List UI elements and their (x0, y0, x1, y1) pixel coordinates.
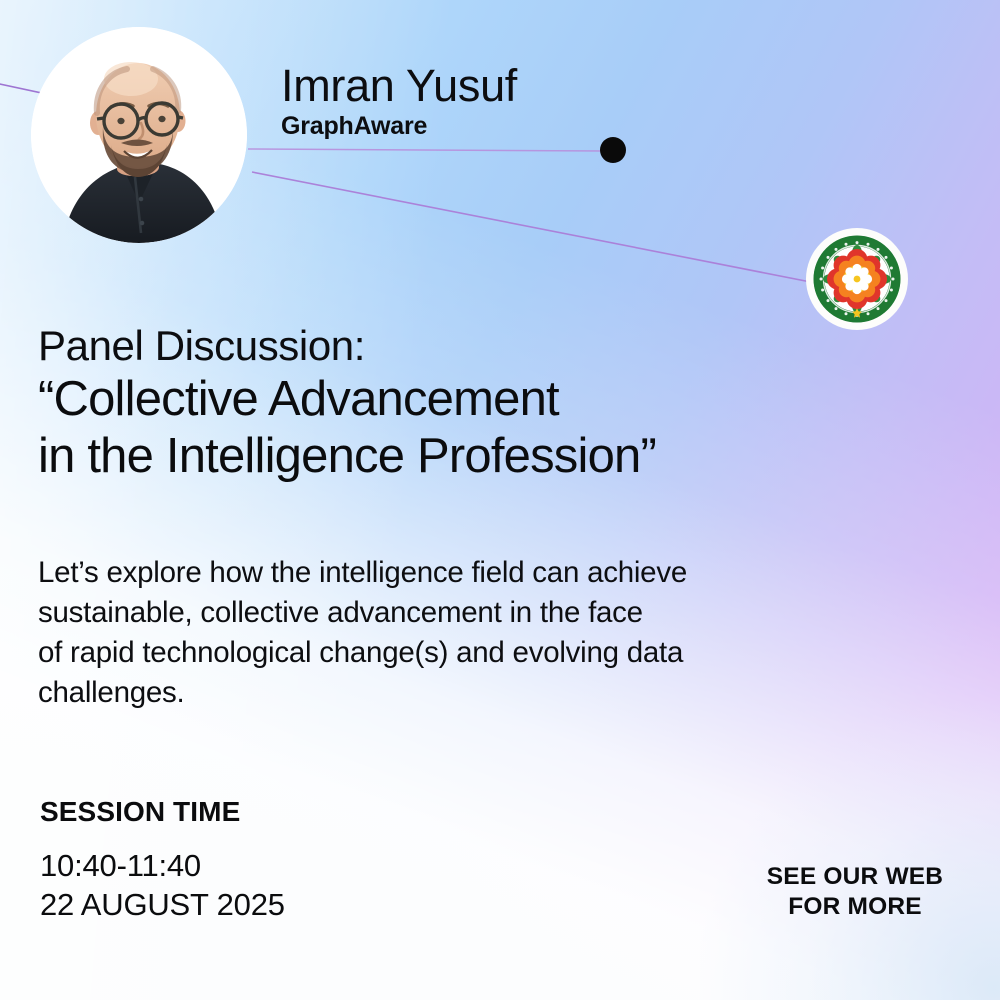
speaker-headshot-icon (31, 27, 247, 243)
headline-main: “Collective Advancement in the Intellige… (38, 371, 918, 485)
headline-line-1: “Collective Advancement (38, 371, 918, 428)
page-title: Panel Discussion: “Collective Advancemen… (38, 322, 918, 485)
graph-node-dot-icon (600, 137, 626, 163)
session-time-value: 10:40-11:40 (40, 846, 285, 885)
cta-line-1: SEE OUR WEB (745, 862, 965, 892)
cta-line-2: FOR MORE (745, 892, 965, 922)
session-time-label: SESSION TIME (40, 797, 285, 828)
session-date-value: 22 AUGUST 2025 (40, 885, 285, 924)
event-promo-poster: Imran Yusuf GraphAware Panel Discussion:… (0, 0, 1000, 1000)
avatar (31, 27, 247, 243)
session-description: Let’s explore how the intelligence field… (38, 553, 938, 713)
see-our-web-cta[interactable]: SEE OUR WEB FOR MORE (745, 862, 965, 922)
speaker-name: Imran Yusuf (281, 62, 711, 109)
speaker-info: Imran Yusuf GraphAware (281, 62, 711, 141)
headline-line-2: in the Intelligence Profession” (38, 428, 918, 485)
description-line-2: sustainable, collective advancement in t… (38, 593, 938, 633)
speaker-organisation: GraphAware (281, 113, 711, 141)
description-line-4: challenges. (38, 673, 938, 713)
session-time-values: 10:40-11:40 22 AUGUST 2025 (40, 846, 285, 924)
institute-rose-emblem-icon (813, 235, 901, 323)
description-line-3: of rapid technological change(s) and evo… (38, 633, 938, 673)
headline-kicker: Panel Discussion: (38, 322, 918, 369)
institute-emblem (806, 228, 908, 330)
description-line-1: Let’s explore how the intelligence field… (38, 553, 938, 593)
session-time-block: SESSION TIME 10:40-11:40 22 AUGUST 2025 (40, 797, 285, 924)
